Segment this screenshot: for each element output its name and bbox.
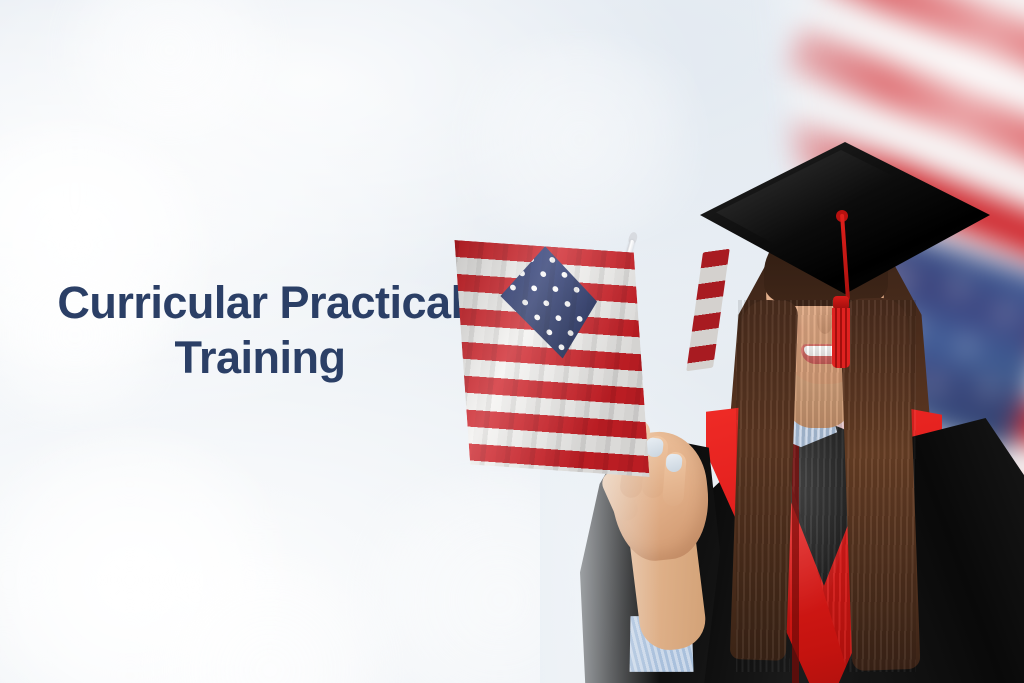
nose xyxy=(817,306,833,334)
hero-banner: Curricular Practical Training xyxy=(0,0,1024,683)
hair-right-strand xyxy=(840,297,921,671)
flag-shading xyxy=(454,240,649,477)
small-american-flag-icon xyxy=(455,228,715,498)
page-title-line-2: Training xyxy=(20,331,500,386)
page-title-line-1: Curricular Practical xyxy=(20,276,500,331)
stole-placket xyxy=(792,430,799,683)
flag-cloth xyxy=(454,240,649,477)
red-tassel-icon xyxy=(832,308,850,368)
page-title: Curricular Practical Training xyxy=(20,276,500,386)
